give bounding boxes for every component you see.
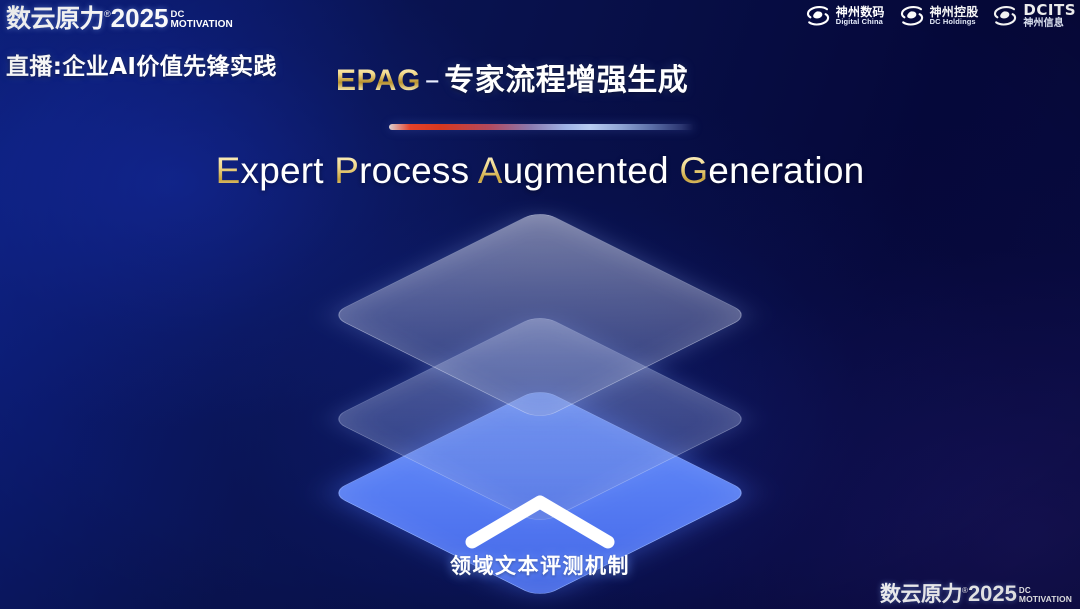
subtitle-part: G: [679, 150, 708, 191]
partner-logo-digital-china: 神州数码 Digital China: [805, 4, 885, 28]
swirl-logo-icon: [992, 4, 1018, 28]
swirl-logo-icon: [899, 4, 925, 28]
subtitle-part: A: [478, 150, 503, 191]
partner-name-cn: DCITS: [1023, 3, 1076, 19]
registered-mark: ®: [104, 10, 111, 19]
title-divider: [389, 124, 694, 130]
slide-canvas: 数云原力 ® 2025 DC MOTIVATION 直播:企业AI价值先锋实践: [0, 0, 1080, 609]
subtitle-part: rocess: [359, 150, 478, 191]
subtitle-part: ugmented: [503, 150, 680, 191]
stack-layer-top: [290, 224, 790, 484]
partner-name-en: DC Holdings: [930, 18, 979, 26]
title-chinese: 专家流程增强生成: [444, 63, 688, 98]
subtitle-part: P: [334, 150, 359, 191]
title-acronym: EPAG: [336, 64, 421, 97]
subtitle-part: eneration: [708, 150, 864, 191]
brand-logo-bottom-right: 数云原力 ® 2025 DC MOTIVATION: [880, 583, 1072, 605]
registered-mark: ®: [962, 587, 968, 595]
stack-label-top: 领域文本评测机制: [290, 550, 790, 580]
title-dash: –: [425, 63, 441, 98]
brand-motivation: MOTIVATION: [171, 20, 233, 30]
swirl-logo-icon: [805, 4, 831, 28]
partner-logo-dc-holdings: 神州控股 DC Holdings: [899, 4, 979, 28]
subtitle-part: xpert: [241, 150, 335, 191]
brand-name-cn: 数云原力: [6, 6, 104, 31]
brand-year: 2025: [111, 5, 169, 31]
slide-title: EPAG–专家流程增强生成: [336, 55, 688, 99]
layered-stack-diagram: 领域文本评测机制 Dynamic MOE 长文本记忆 三类语义建模模块: [290, 224, 790, 564]
partner-logo-dcits: DCITS 神州信息: [992, 3, 1076, 29]
partner-name-en: 神州信息: [1023, 19, 1076, 30]
slide-subtitle: Expert Process Augmented Generation: [0, 150, 1080, 192]
brand-logo-top-left: 数云原力 ® 2025 DC MOTIVATION: [6, 2, 306, 34]
livestream-title: 直播:企业AI价值先锋实践: [6, 47, 277, 81]
subtitle-part: E: [216, 150, 241, 191]
partner-logo-group: 神州数码 Digital China 神州控股 DC Holdings: [805, 3, 1076, 29]
brand-year: 2025: [968, 583, 1017, 605]
brand-motivation: MOTIVATION: [1019, 595, 1072, 604]
stack-plate-top: [329, 210, 750, 421]
partner-name-en: Digital China: [836, 18, 885, 26]
